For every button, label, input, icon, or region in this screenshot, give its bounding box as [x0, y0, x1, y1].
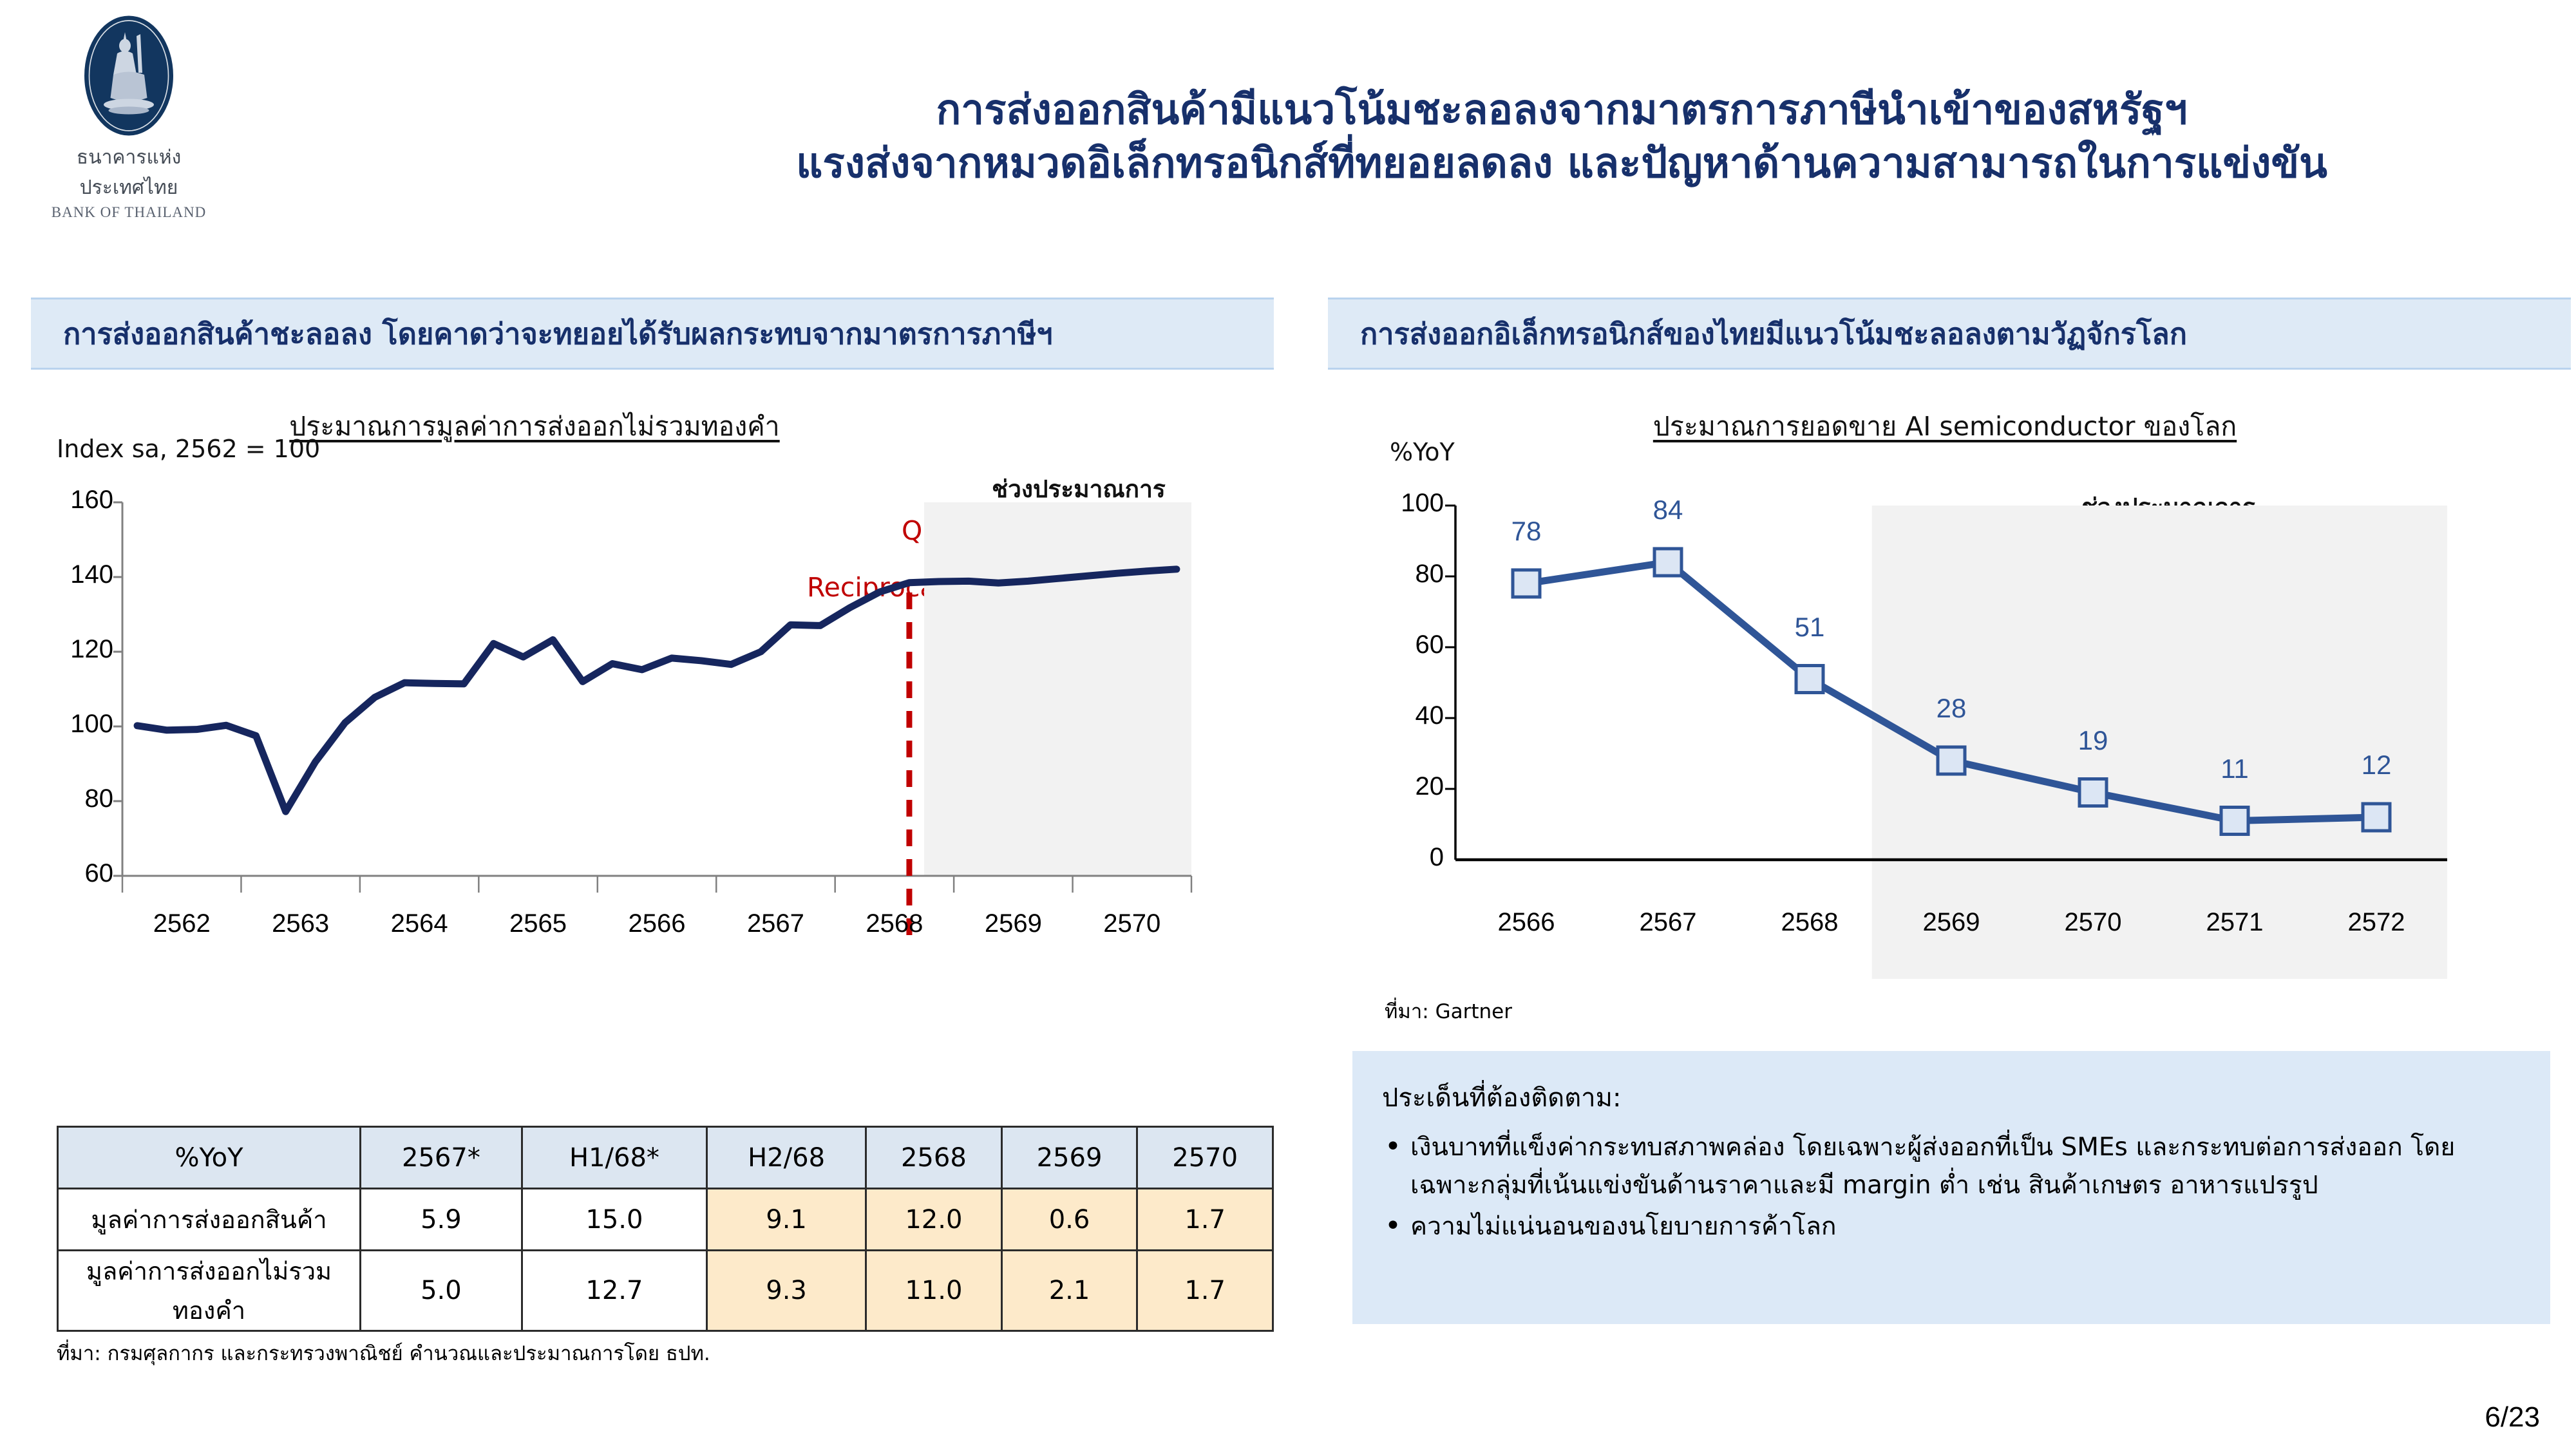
slide-root: ธนาคารแห่งประเทศไทย BANK OF THAILAND การ… [0, 0, 2576, 1449]
right-data-marker [2363, 804, 2390, 831]
table-col-header-4: 2568 [866, 1127, 1002, 1189]
right-data-label-2568: 51 [1739, 612, 1880, 643]
table-col-header-5: 2569 [1001, 1127, 1137, 1189]
table-col-header-6: 2570 [1137, 1127, 1273, 1189]
right-data-marker [2079, 779, 2107, 806]
table-cell: 15.0 [522, 1189, 706, 1251]
table-row-label-1: มูลค่าการส่งออกไม่รวมทองคำ [58, 1251, 361, 1331]
table-col-header-1: 2567* [361, 1127, 522, 1189]
right-data-label-2566: 78 [1455, 516, 1597, 547]
right-ytick-20: 20 [1373, 772, 1444, 801]
left-source-note: ที่มา: กรมศุลกากร และกระทรวงพาณิชย์ คำนว… [57, 1337, 710, 1369]
table-cell: 9.3 [707, 1251, 866, 1331]
right-data-marker [1654, 549, 1681, 576]
right-ytick-60: 60 [1373, 630, 1444, 659]
bot-seal-icon [80, 13, 177, 138]
table-cell: 2.1 [1001, 1251, 1137, 1331]
left-forecast-shade [924, 502, 1191, 876]
right-chart-axis-unit: %YoY [1390, 438, 1455, 466]
left-ytick-140: 140 [52, 560, 113, 589]
left-ytick-100: 100 [52, 710, 113, 739]
left-xtick-2570: 2570 [1061, 909, 1203, 938]
right-data-label-2571: 11 [2164, 753, 2306, 784]
table-cell: 12.7 [522, 1251, 706, 1331]
right-data-label-2570: 19 [2022, 725, 2164, 756]
left-ytick-160: 160 [52, 486, 113, 515]
right-xtick-2569: 2569 [1880, 908, 2022, 937]
watch-points-heading: ประเด็นที่ต้องติดตาม: [1382, 1077, 2521, 1118]
left-chart-axis-unit: Index sa, 2562 = 100 [57, 435, 320, 463]
table-cell: 5.0 [361, 1251, 522, 1331]
table-cell: 12.0 [866, 1189, 1002, 1251]
right-data-label-2569: 28 [1880, 693, 2022, 724]
right-source-note: ที่มา: Gartner [1385, 995, 1512, 1027]
table-row: มูลค่าการส่งออกไม่รวมทองคำ5.012.79.311.0… [58, 1251, 1273, 1331]
right-panel-header: การส่งออกอิเล็กทรอนิกส์ของไทยมีแนวโน้มชะ… [1328, 298, 2571, 370]
table-cell: 1.7 [1137, 1189, 1273, 1251]
right-ytick-40: 40 [1373, 701, 1444, 730]
table-cell: 11.0 [866, 1251, 1002, 1331]
table-row-label-0: มูลค่าการส่งออกสินค้า [58, 1189, 361, 1251]
right-ytick-100: 100 [1373, 489, 1444, 518]
watch-point-item-0: เงินบาทที่แข็งค่ากระทบสภาพคล่อง โดยเฉพาะ… [1382, 1128, 2521, 1205]
table-cell: 9.1 [707, 1189, 866, 1251]
right-xtick-2571: 2571 [2164, 908, 2306, 937]
right-data-marker [1796, 666, 1823, 693]
right-data-marker [1938, 747, 1965, 774]
right-xtick-2568: 2568 [1739, 908, 1880, 937]
right-data-marker [1513, 570, 1540, 597]
table-col-header-0: %YoY [58, 1127, 361, 1189]
logo-name-thai: ธนาคารแห่งประเทศไทย [39, 142, 219, 203]
right-chart-title: ประมาณการยอดขาย AI semiconductor ของโลก [1558, 406, 2331, 448]
right-data-label-2572: 12 [2306, 750, 2447, 781]
export-forecast-table: %YoY2567*H1/68*H2/68256825692570 มูลค่าก… [57, 1126, 1274, 1332]
page-number: 6/23 [2485, 1401, 2540, 1434]
right-xtick-2572: 2572 [2306, 908, 2447, 937]
logo-name-english: BANK OF THAILAND [39, 204, 219, 221]
table-col-header-3: H2/68 [707, 1127, 866, 1189]
right-xtick-2570: 2570 [2022, 908, 2164, 937]
left-ytick-60: 60 [52, 859, 113, 888]
left-panel-header: การส่งออกสินค้าชะลอลง โดยคาดว่าจะทยอยได้… [31, 298, 1274, 370]
table-cell: 1.7 [1137, 1251, 1273, 1331]
bank-logo: ธนาคารแห่งประเทศไทย BANK OF THAILAND [39, 13, 219, 221]
right-data-label-2567: 84 [1597, 495, 1739, 526]
right-ytick-80: 80 [1373, 560, 1444, 589]
watch-points-list: เงินบาทที่แข็งค่ากระทบสภาพคล่อง โดยเฉพาะ… [1382, 1128, 2521, 1245]
left-ytick-120: 120 [52, 635, 113, 664]
table-row: มูลค่าการส่งออกสินค้า5.915.09.112.00.61.… [58, 1189, 1273, 1251]
page-title-line2: แรงส่งจากหมวดอิเล็กทรอนิกส์ที่ทยอยลดลง แ… [580, 137, 2544, 191]
watch-point-item-1: ความไม่แน่นอนของนโยบายการค้าโลก [1382, 1207, 2521, 1245]
page-title: การส่งออกสินค้ามีแนวโน้มชะลอลงจากมาตรการ… [580, 84, 2544, 191]
right-ytick-0: 0 [1373, 843, 1444, 872]
watch-points-box: ประเด็นที่ต้องติดตาม: เงินบาทที่แข็งค่าก… [1352, 1051, 2550, 1324]
table-header-row: %YoY2567*H1/68*H2/68256825692570 [58, 1127, 1273, 1189]
right-xtick-2567: 2567 [1597, 908, 1739, 937]
left-line-chart [39, 477, 1262, 1095]
page-title-line1: การส่งออกสินค้ามีแนวโน้มชะลอลงจากมาตรการ… [580, 84, 2544, 137]
table-cell: 0.6 [1001, 1189, 1137, 1251]
table-col-header-2: H1/68* [522, 1127, 706, 1189]
table-cell: 5.9 [361, 1189, 522, 1251]
left-ytick-80: 80 [52, 784, 113, 813]
right-data-marker [2221, 808, 2248, 835]
right-xtick-2566: 2566 [1455, 908, 1597, 937]
